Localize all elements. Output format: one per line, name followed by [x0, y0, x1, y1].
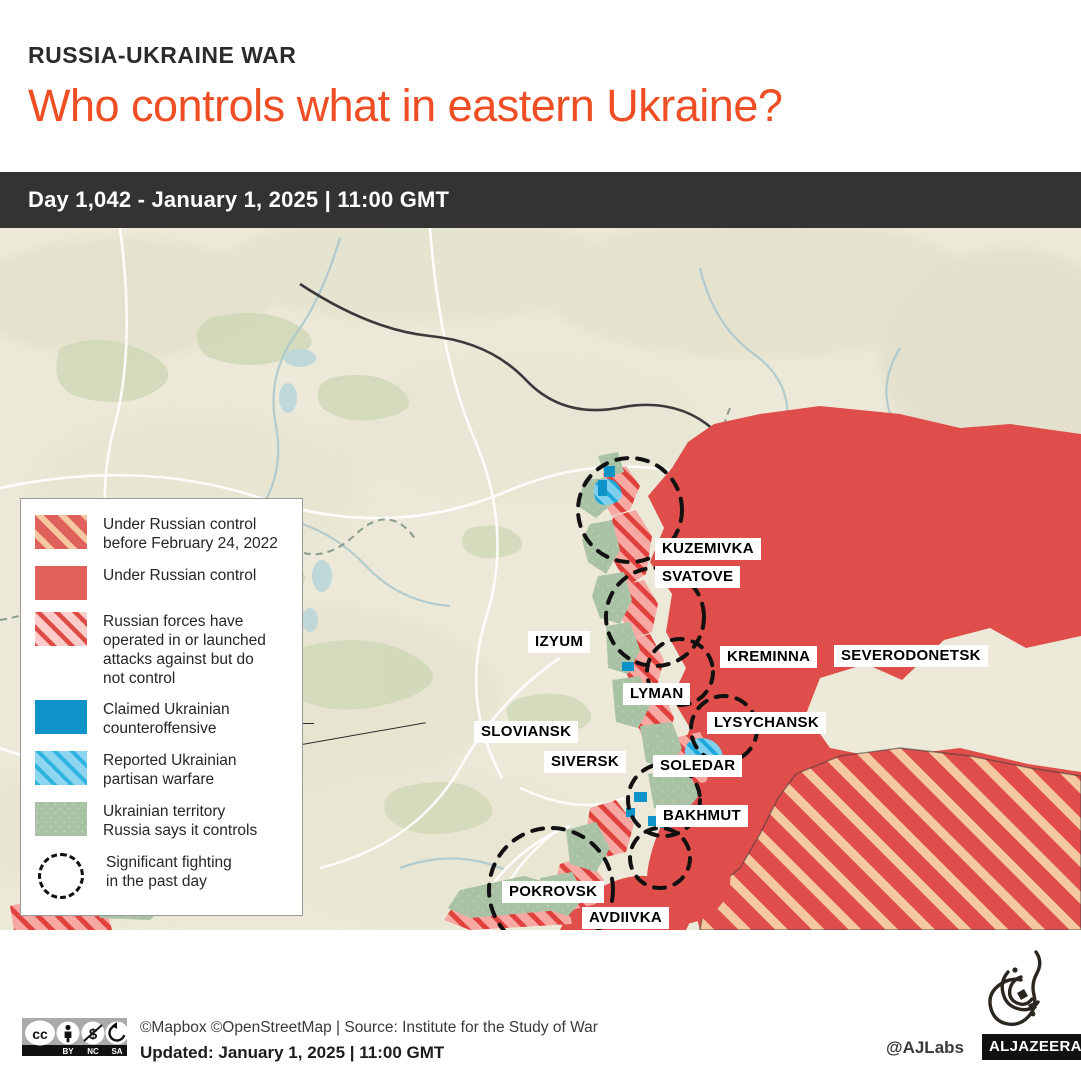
date-bar: Day 1,042 - January 1, 2025 | 11:00 GMT — [0, 172, 1081, 228]
legend-label-russian-control: Under Russian control — [103, 566, 256, 586]
legend-label-operated: Russian forces haveoperated in or launch… — [103, 612, 266, 689]
aljazeera-calligraphy-logo — [984, 948, 1062, 1028]
city-label-siversk[interactable]: SIVERSK — [544, 751, 626, 773]
swatch-operated-icon — [35, 612, 87, 646]
svg-text:NC: NC — [87, 1047, 99, 1056]
legend-item-russian-control: Under Russian control — [35, 566, 288, 600]
legend-item-fighting: Significant fightingin the past day — [35, 853, 288, 899]
header: RUSSIA-UKRAINE WAR Who controls what in … — [0, 0, 1081, 172]
svg-text:SA: SA — [111, 1047, 122, 1056]
page-title: Who controls what in eastern Ukraine? — [28, 80, 782, 132]
source-attribution: ©Mapbox ©OpenStreetMap | Source: Institu… — [140, 1019, 598, 1037]
legend-item-counteroffensive: Claimed Ukrainiancounteroffensive — [35, 700, 288, 739]
legend-item-operated: Russian forces haveoperated in or launch… — [35, 612, 288, 689]
cc-license-icon: cc $ BY NC SA — [22, 1018, 127, 1056]
city-label-soledar[interactable]: SOLEDAR — [653, 755, 742, 777]
city-label-severodonetsk[interactable]: SEVERODONETSK — [834, 645, 988, 667]
legend-label-counteroffensive: Claimed Ukrainiancounteroffensive — [103, 700, 230, 739]
map-legend: Under Russian controlbefore February 24,… — [20, 498, 303, 916]
city-label-avdiivka[interactable]: AVDIIVKA — [582, 907, 669, 929]
legend-swatch-fighting-circle-icon — [38, 853, 84, 899]
city-label-svatove[interactable]: SVATOVE — [655, 566, 740, 588]
legend-item-pre2022: Under Russian controlbefore February 24,… — [35, 515, 288, 554]
svg-text:BY: BY — [62, 1047, 74, 1056]
legend-swatch-operated — [35, 612, 87, 646]
swatch-partisan-icon — [35, 751, 87, 785]
infographic-root: RUSSIA-UKRAINE WAR Who controls what in … — [0, 0, 1081, 1081]
kicker-label: RUSSIA-UKRAINE WAR — [28, 42, 296, 69]
legend-swatch-ukr-claimed — [35, 802, 87, 836]
city-label-lyman[interactable]: LYMAN — [623, 683, 690, 705]
city-label-lysychansk[interactable]: LYSYCHANSK — [707, 712, 826, 734]
city-label-sloviansk[interactable]: SLOVIANSK — [474, 721, 578, 743]
legend-label-pre2022: Under Russian controlbefore February 24,… — [103, 515, 278, 554]
updated-timestamp: Updated: January 1, 2025 | 11:00 GMT — [140, 1043, 444, 1063]
city-label-pokrovsk[interactable]: POKROVSK — [502, 881, 604, 903]
swatch-ukr-claimed-icon — [35, 802, 87, 836]
aljazeera-logo-icon — [984, 948, 1062, 1028]
legend-swatch-russian-control — [35, 566, 87, 600]
city-label-kreminna[interactable]: KREMINNA — [720, 646, 817, 668]
legend-swatch-partisan — [35, 751, 87, 785]
city-label-kuzemivka[interactable]: KUZEMIVKA — [655, 538, 761, 560]
legend-label-fighting: Significant fightingin the past day — [106, 853, 232, 892]
city-label-bakhmut[interactable]: BAKHMUT — [656, 805, 748, 827]
legend-swatch-pre2022 — [35, 515, 87, 549]
date-bar-text: Day 1,042 - January 1, 2025 | 11:00 GMT — [28, 187, 449, 213]
legend-label-ukr-claimed: Ukrainian territoryRussia says it contro… — [103, 802, 257, 841]
swatch-pre2022-icon — [35, 515, 87, 549]
ajlabs-handle: @AJLabs — [886, 1038, 964, 1058]
legend-item-partisan: Reported Ukrainianpartisan warfare — [35, 751, 288, 790]
aljazeera-wordmark: ALJAZEERA — [982, 1034, 1081, 1060]
city-label-izyum[interactable]: IZYUM — [528, 631, 590, 653]
svg-text:cc: cc — [32, 1026, 48, 1042]
creative-commons-badge: cc $ BY NC SA — [22, 1018, 127, 1056]
legend-label-partisan: Reported Ukrainianpartisan warfare — [103, 751, 237, 790]
legend-item-ukr-claimed: Ukrainian territoryRussia says it contro… — [35, 802, 288, 841]
legend-swatch-counteroffensive — [35, 700, 87, 734]
